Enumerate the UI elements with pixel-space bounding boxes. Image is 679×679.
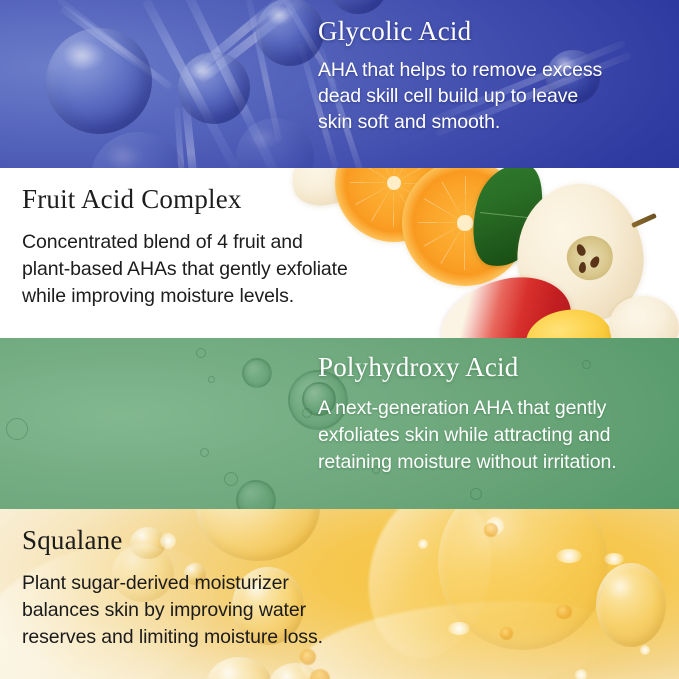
body-line: Plant sugar-derived moisturizer (22, 570, 323, 597)
squalane-text-block: Squalane Plant sugar-derived moisturizer… (22, 525, 323, 651)
panel-heading-fruit: Fruit Acid Complex (22, 184, 348, 215)
body-line: AHA that helps to remove excess (318, 57, 602, 83)
panel-heading-polyhydroxy: Polyhydroxy Acid (318, 352, 617, 383)
panel-heading-squalane: Squalane (22, 525, 323, 556)
panel-body-squalane: Plant sugar-derived moisturizer balances… (22, 570, 323, 651)
oil-droplet (206, 657, 272, 679)
oil-amber-bead (500, 627, 513, 640)
panel-body-fruit: Concentrated blend of 4 fruit and plant-… (22, 229, 348, 310)
bubble (200, 448, 209, 457)
bubble (302, 408, 312, 418)
bubble (208, 376, 215, 383)
oil-highlight (575, 669, 587, 679)
oil-highlight (604, 553, 624, 565)
molecule-atom (178, 52, 250, 124)
body-line: dead skill cell build up to leave (318, 83, 602, 109)
body-line: A next-generation AHA that gently (318, 395, 617, 422)
bubble (6, 418, 28, 440)
panel-body-glycolic: AHA that helps to remove excess dead ski… (318, 57, 602, 135)
apple-stem (631, 213, 657, 228)
body-line: skin soft and smooth. (318, 109, 602, 135)
oil-highlight (556, 549, 582, 563)
oil-amber-bead (300, 649, 316, 665)
glycolic-text-block: Glycolic Acid AHA that helps to remove e… (318, 16, 602, 135)
orange-core (387, 176, 401, 190)
fruit-text-block: Fruit Acid Complex Concentrated blend of… (22, 184, 348, 310)
panel-heading-glycolic: Glycolic Acid (318, 16, 602, 47)
panel-glycolic-acid: Glycolic Acid AHA that helps to remove e… (0, 0, 679, 168)
oil-droplet (596, 563, 666, 647)
panel-squalane: Squalane Plant sugar-derived moisturizer… (0, 509, 679, 679)
molecule-atom (256, 0, 324, 66)
body-line: exfoliates skin while attracting and (318, 422, 617, 449)
body-line: while improving moisture levels. (22, 283, 348, 310)
oil-amber-bead (556, 605, 572, 619)
bubble (236, 480, 276, 509)
body-line: Concentrated blend of 4 fruit and (22, 229, 348, 256)
body-line: reserves and limiting moisture loss. (22, 624, 323, 651)
bubble (470, 488, 482, 500)
polyhydroxy-text-block: Polyhydroxy Acid A next-generation AHA t… (318, 352, 617, 476)
body-line: retaining moisture without irritation. (318, 449, 617, 476)
molecule-atom (328, 0, 388, 14)
oil-amber-bead (484, 523, 498, 537)
ingredient-benefits-infographic: Glycolic Acid AHA that helps to remove e… (0, 0, 679, 679)
bubble (196, 348, 206, 358)
body-line: balances skin by improving water (22, 597, 323, 624)
oil-highlight (418, 539, 428, 549)
panel-polyhydroxy-acid: Polyhydroxy Acid A next-generation AHA t… (0, 338, 679, 509)
orange-core (457, 215, 472, 230)
oil-highlight (640, 645, 650, 655)
bubble (242, 358, 272, 388)
oil-highlight (448, 622, 470, 635)
panel-body-polyhydroxy: A next-generation AHA that gently exfoli… (318, 395, 617, 476)
bubble (224, 472, 238, 486)
body-line: plant-based AHAs that gently exfoliate (22, 256, 348, 283)
panel-fruit-acid-complex: Fruit Acid Complex Concentrated blend of… (0, 168, 679, 338)
molecule-atom (90, 132, 186, 168)
molecule-atom (46, 28, 152, 134)
